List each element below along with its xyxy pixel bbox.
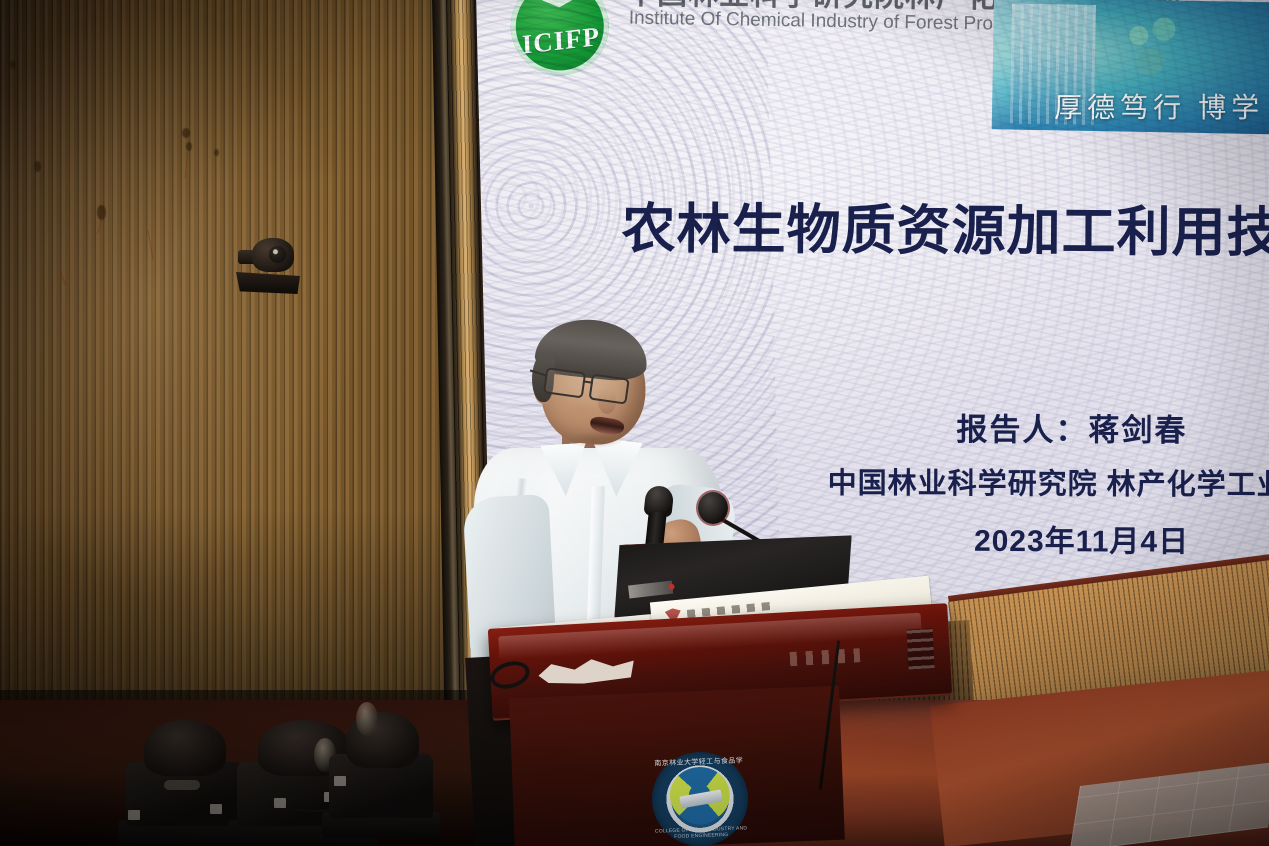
moving-head-light-3 — [322, 686, 440, 838]
podium-paint-chip — [538, 655, 635, 686]
eyeglass-lens-right — [589, 374, 630, 405]
light-label-tag — [334, 776, 346, 786]
speaker-chin-shadow — [566, 432, 624, 448]
camera-lens-icon — [269, 246, 286, 263]
light-brand-badge — [164, 780, 200, 790]
ptz-wall-camera — [236, 236, 306, 294]
podium-seal-emblem: 南京林业大学轻工与食品学院 COLLEGE OF LIGHT INDUSTRY … — [650, 750, 749, 846]
light-label-tag — [128, 810, 140, 820]
light-label-tag — [274, 798, 286, 808]
eyeglass-lens-left — [543, 367, 586, 398]
podium-engraved-text — [790, 648, 861, 666]
gooseneck-microphone-head[interactable] — [698, 492, 728, 524]
light-lens-icon — [356, 702, 378, 736]
eyeglass-bridge — [584, 381, 593, 384]
light-head — [144, 720, 226, 776]
light-label-tag — [210, 804, 222, 814]
camera-bracket — [236, 272, 300, 294]
podium-control-panel[interactable] — [906, 628, 934, 669]
light-power-cable — [286, 796, 346, 812]
presentation-photo-scene: ICIFP 中国林业科学研究院林产化学工业研究所 Institute Of Ch… — [0, 0, 1269, 846]
